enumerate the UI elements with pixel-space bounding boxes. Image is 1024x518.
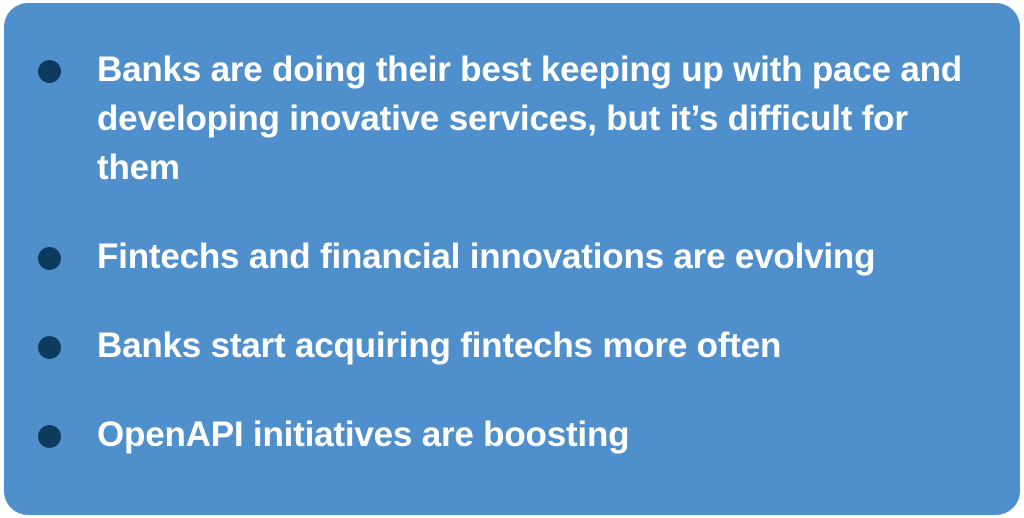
list-item: OpenAPI initiatives are boosting — [4, 410, 1020, 459]
list-item: Banks are doing their best keeping up wi… — [4, 45, 1020, 192]
filled-circle-icon — [38, 336, 61, 359]
list-item-label: Fintechs and financial innovations are e… — [97, 232, 990, 281]
filled-circle-icon — [38, 425, 61, 448]
list-item: Banks start acquiring fintechs more ofte… — [4, 321, 1020, 370]
list-item-label: OpenAPI initiatives are boosting — [97, 410, 990, 459]
bullet-list: Banks are doing their best keeping up wi… — [4, 3, 1020, 459]
filled-circle-icon — [38, 247, 61, 270]
filled-circle-icon — [38, 60, 61, 83]
list-item-label: Banks start acquiring fintechs more ofte… — [97, 321, 990, 370]
list-item: Fintechs and financial innovations are e… — [4, 232, 1020, 281]
slide-card: Banks are doing their best keeping up wi… — [4, 3, 1020, 515]
list-item-label: Banks are doing their best keeping up wi… — [97, 45, 990, 192]
